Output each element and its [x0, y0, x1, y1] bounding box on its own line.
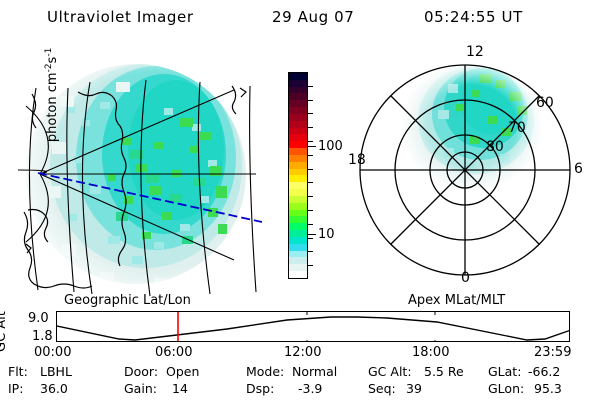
- status-dsp-value: -3.9: [298, 381, 322, 396]
- colorbar-band-26: [289, 251, 307, 258]
- colorbar-band-22: [289, 223, 307, 230]
- apex-mlat-mlt-panel: [352, 44, 584, 296]
- timeline-x-tick-1200: 12:00: [284, 345, 321, 360]
- status-flt-value: LBHL: [40, 364, 72, 379]
- status-glon-label: GLon:: [488, 381, 524, 396]
- colorbar-major-100-tick: [308, 146, 316, 147]
- status-mode-label: Mode:: [246, 364, 284, 379]
- orbit-altitude-svg: [57, 312, 570, 342]
- colorbar-band-19: [289, 203, 307, 210]
- timeline-y-tick-top: 9.0: [28, 311, 49, 326]
- colorbar-major-10-tick: [308, 234, 316, 235]
- status-gcalt-value: 5.5 Re: [424, 364, 464, 379]
- colorbar-band-17: [289, 189, 307, 196]
- timeline-tick-marks: [178, 312, 435, 342]
- colorbar-band-0: [289, 73, 307, 80]
- colorbar-label-100: 100: [318, 139, 343, 154]
- status-glon-value: 95.3: [534, 381, 562, 396]
- timeline-y-tick-bottom: 1.8: [32, 329, 53, 344]
- colorbar-minor-tick-7: [308, 169, 313, 170]
- mlt-label-6: 6: [574, 161, 583, 177]
- colorbar-band-3: [289, 93, 307, 100]
- colorbar-band-10: [289, 141, 307, 148]
- status-row-1: Flt: LBHL Door: Open Mode: Normal GC Alt…: [0, 364, 600, 381]
- colorbar-band-12: [289, 155, 307, 162]
- colorbar-minor-tick-5: [308, 141, 313, 142]
- status-seq-value: 39: [406, 381, 422, 396]
- mlat-label-80: 80: [486, 139, 504, 155]
- colorbar-minor-tick-4: [308, 127, 313, 128]
- status-gain-label: Gain:: [124, 381, 157, 396]
- colorbar-band-5: [289, 107, 307, 114]
- colorbar-band-8: [289, 128, 307, 135]
- altitude-curve: [57, 317, 570, 340]
- status-row-2: IP: 36.0 Gain: 14 Dsp: -3.9 Seq: 39 GLon…: [0, 381, 600, 398]
- mlt-label-18: 18: [348, 152, 366, 168]
- colorbar-band-20: [289, 210, 307, 217]
- timeline-x-tick-2359: 23:59: [534, 345, 571, 360]
- colorbar-label-10: 10: [318, 227, 335, 242]
- colorbar-minor-tick-13: [308, 251, 313, 252]
- status-flt-label: Flt:: [8, 364, 28, 379]
- status-glat-value: -66.2: [528, 364, 560, 379]
- colorbar-axis-title: photon cm-2s-1: [29, 3, 75, 203]
- timeline-y-axis-title: GC Alt: [0, 312, 9, 352]
- status-door-value: Open: [166, 364, 199, 379]
- colorbar-band-1: [289, 80, 307, 87]
- colorbar-minor-tick-14: [308, 265, 313, 266]
- status-gain-value: 14: [172, 381, 188, 396]
- colorbar-minor-tick-1: [308, 86, 313, 87]
- mlt-label-0: 0: [461, 270, 470, 286]
- geographic-panel-subtitle: Geographic Lat/Lon: [64, 293, 191, 308]
- status-ip-label: IP:: [8, 381, 23, 396]
- colorbar-band-2: [289, 87, 307, 94]
- colorbar-band-28: [289, 264, 307, 271]
- colorbar-minor-tick-8: [308, 182, 313, 183]
- colorbar-minor-tick-10: [308, 210, 313, 211]
- status-gcalt-label: GC Alt:: [368, 364, 412, 379]
- mlt-label-12: 12: [466, 44, 484, 60]
- colorbar-minor-tick-11: [308, 224, 313, 225]
- colorbar-tick-marks: [308, 72, 316, 279]
- intensity-colorbar: [288, 72, 308, 279]
- colorbar-minor-tick-2: [308, 100, 313, 101]
- colorbar-band-18: [289, 196, 307, 203]
- timeline-x-tick-0000: 00:00: [34, 345, 71, 360]
- colorbar-minor-tick-6: [308, 155, 313, 156]
- orbit-altitude-timeline[interactable]: [56, 311, 570, 342]
- observation-time: 05:24:55 UT: [424, 8, 523, 26]
- colorbar-band-24: [289, 237, 307, 244]
- colorbar-band-27: [289, 257, 307, 264]
- colorbar-band-7: [289, 121, 307, 128]
- colorbar-band-15: [289, 175, 307, 182]
- colorbar-band-23: [289, 230, 307, 237]
- status-door-label: Door:: [124, 364, 158, 379]
- colorbar-band-11: [289, 148, 307, 155]
- timeline-x-tick-1800: 18:00: [412, 345, 449, 360]
- status-mode-value: Normal: [292, 364, 337, 379]
- mlat-label-70: 70: [508, 120, 526, 136]
- observation-date: 29 Aug 07: [272, 8, 354, 26]
- colorbar-band-29: [289, 271, 307, 278]
- colorbar-band-9: [289, 134, 307, 141]
- status-dsp-label: Dsp:: [246, 381, 274, 396]
- colorbar-band-21: [289, 216, 307, 223]
- colorbar-band-14: [289, 169, 307, 176]
- colorbar-band-6: [289, 114, 307, 121]
- colorbar-minor-tick-3: [308, 113, 313, 114]
- status-ip-value: 36.0: [40, 381, 68, 396]
- mlat-label-60: 60: [536, 95, 554, 111]
- polar-panel-subtitle: Apex MLat/MLT: [408, 293, 505, 308]
- colorbar-band-13: [289, 162, 307, 169]
- polar-projection-svg: [352, 44, 584, 296]
- colorbar-minor-tick-9: [308, 196, 313, 197]
- timeline-x-tick-0600: 06:00: [155, 345, 192, 360]
- uvi-summary-plot: Ultraviolet Imager 29 Aug 07 05:24:55 UT: [0, 0, 600, 400]
- colorbar-band-25: [289, 244, 307, 251]
- colorbar-band-16: [289, 182, 307, 189]
- colorbar-band-4: [289, 100, 307, 107]
- status-seq-label: Seq:: [368, 381, 396, 396]
- colorbar-minor-tick-12: [308, 238, 313, 239]
- status-glat-label: GLat:: [488, 364, 521, 379]
